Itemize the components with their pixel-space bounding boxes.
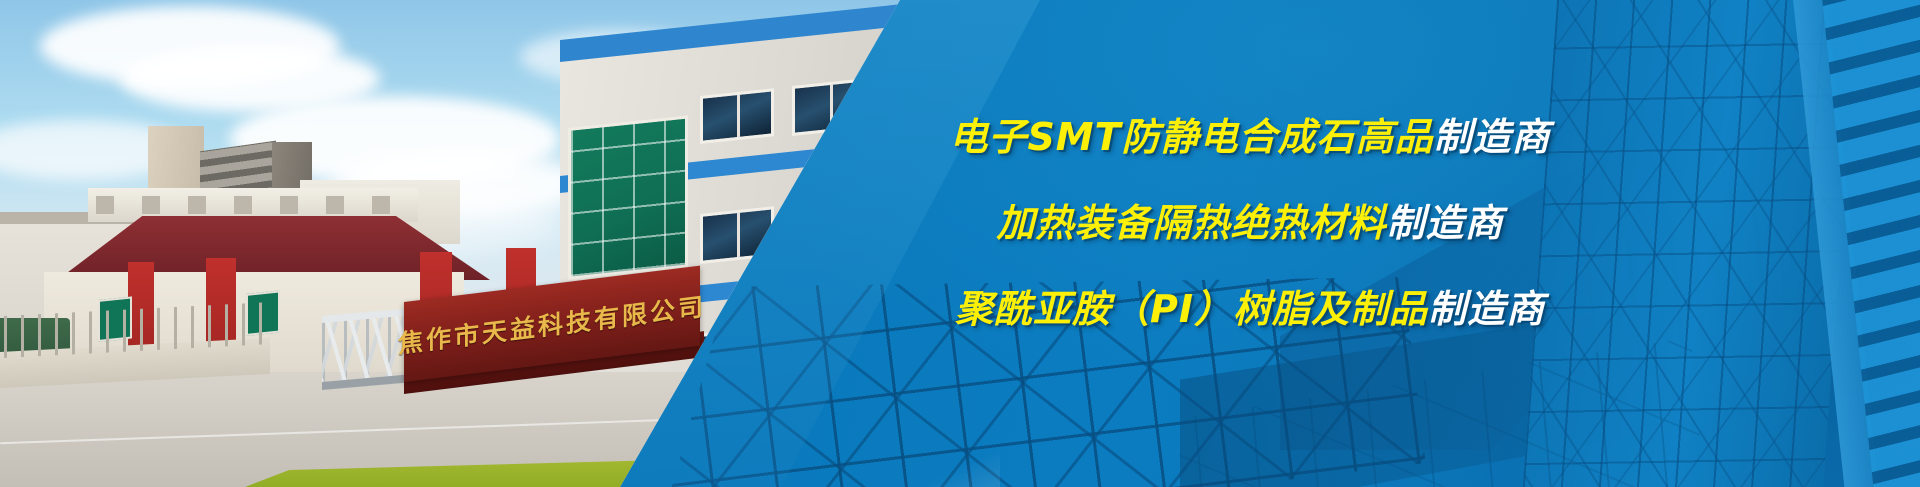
- headline-line-2-suffix: 制造商: [1387, 201, 1504, 245]
- headline-block: 电子SMT防静电合成石高品制造商 加热装备隔热绝热材料制造商 聚酰亚胺（PI）树…: [860, 118, 1640, 328]
- window: [700, 88, 774, 144]
- gatehouse-parapet-openings: [96, 196, 410, 214]
- green-glass-curtain-wall: [568, 115, 688, 280]
- headline-line-1-suffix: 制造商: [1434, 115, 1551, 159]
- headline-line-3-suffix: 制造商: [1428, 287, 1545, 331]
- headline-line-2: 加热装备隔热绝热材料制造商: [860, 204, 1640, 242]
- company-name-text: 焦作市天益科技有限公司: [398, 287, 706, 361]
- headline-line-3: 聚酰亚胺（PI）树脂及制品制造商: [860, 290, 1640, 328]
- headline-line-2-highlight: 加热装备隔热绝热材料: [996, 201, 1386, 245]
- headline-line-1: 电子SMT防静电合成石高品制造商: [860, 118, 1640, 156]
- promotional-banner: 焦作市天益科技有限公司 电子SMT防静电合成石高品制造商 加热装备隔热绝热材料制…: [0, 0, 1920, 487]
- headline-line-3-highlight: 聚酰亚胺（PI）树脂及制品: [955, 287, 1428, 331]
- headline-line-1-highlight: 电子SMT防静电合成石高品: [949, 115, 1433, 159]
